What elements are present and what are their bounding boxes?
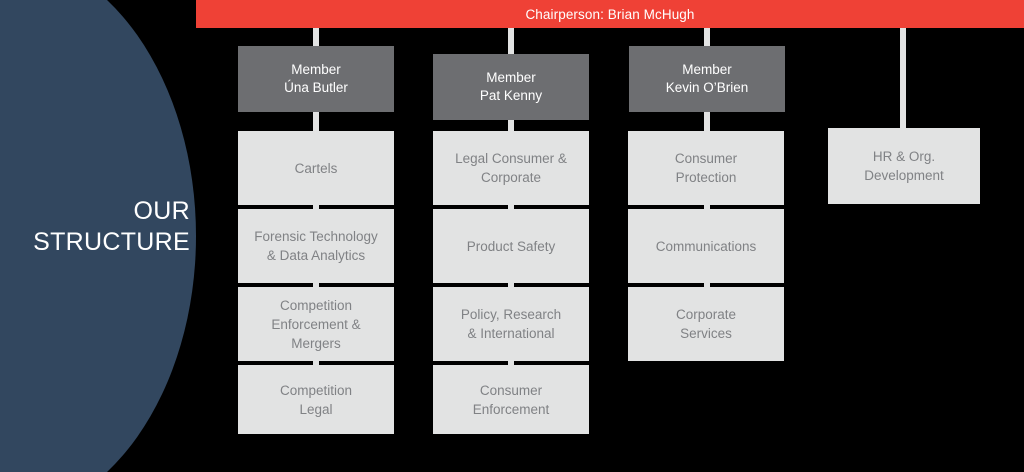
page-title: OUR STRUCTURE xyxy=(0,196,190,258)
department-label: Communications xyxy=(656,237,757,256)
department-box-consumer-enforcement[interactable]: Consumer Enforcement xyxy=(433,365,589,434)
department-box-consumer-protection[interactable]: Consumer Protection xyxy=(628,131,784,205)
chairperson-bar: Chairperson: Brian McHugh xyxy=(196,0,1024,28)
department-label: Legal Consumer & Corporate xyxy=(455,149,567,187)
member-box-pat-kenny[interactable]: Member Pat Kenny xyxy=(433,54,589,120)
department-box-cartels[interactable]: Cartels xyxy=(238,131,394,205)
department-label: Corporate Services xyxy=(676,305,736,343)
connector-member-1-to-dept-1 xyxy=(313,112,319,131)
member-label: Member Úna Butler xyxy=(284,61,348,97)
department-label: Consumer Enforcement xyxy=(473,381,550,419)
department-label: Product Safety xyxy=(467,237,556,256)
department-label: HR & Org. Development xyxy=(864,147,944,185)
connector-member-2-to-dept-1 xyxy=(508,120,514,131)
department-box-competition-enforcement[interactable]: Competition Enforcement & Mergers xyxy=(238,287,394,361)
member-box-una-butler[interactable]: Member Úna Butler xyxy=(238,46,394,112)
department-label: Forensic Technology & Data Analytics xyxy=(254,227,378,265)
department-box-forensic-technology[interactable]: Forensic Technology & Data Analytics xyxy=(238,209,394,283)
department-box-policy-research-international[interactable]: Policy, Research & International xyxy=(433,287,589,361)
department-box-competition-legal[interactable]: Competition Legal xyxy=(238,365,394,434)
department-label: Cartels xyxy=(295,159,338,178)
connector-member-3-to-dept-1 xyxy=(704,112,710,131)
department-label: Competition Enforcement & Mergers xyxy=(271,296,360,353)
department-box-corporate-services[interactable]: Corporate Services xyxy=(628,287,784,361)
member-box-kevin-obrien[interactable]: Member Kevin O’Brien xyxy=(629,46,785,112)
member-label: Member Kevin O’Brien xyxy=(666,61,749,97)
chairperson-label: Chairperson: Brian McHugh xyxy=(525,7,694,22)
department-box-product-safety[interactable]: Product Safety xyxy=(433,209,589,283)
department-box-legal-consumer-corporate[interactable]: Legal Consumer & Corporate xyxy=(433,131,589,205)
member-label: Member Pat Kenny xyxy=(480,69,542,105)
department-box-communications[interactable]: Communications xyxy=(628,209,784,283)
department-label: Policy, Research & International xyxy=(461,305,561,343)
org-chart-canvas: OUR STRUCTURE Chairperson: Brian McHugh … xyxy=(0,0,1024,472)
connector-chair-to-member-3 xyxy=(704,28,710,46)
connector-chair-to-hr xyxy=(900,28,906,128)
department-label: Consumer Protection xyxy=(675,149,737,187)
department-box-hr-org-development[interactable]: HR & Org. Development xyxy=(828,128,980,204)
department-label: Competition Legal xyxy=(280,381,352,419)
connector-chair-to-member-2 xyxy=(508,28,514,54)
connector-chair-to-member-1 xyxy=(313,28,319,46)
